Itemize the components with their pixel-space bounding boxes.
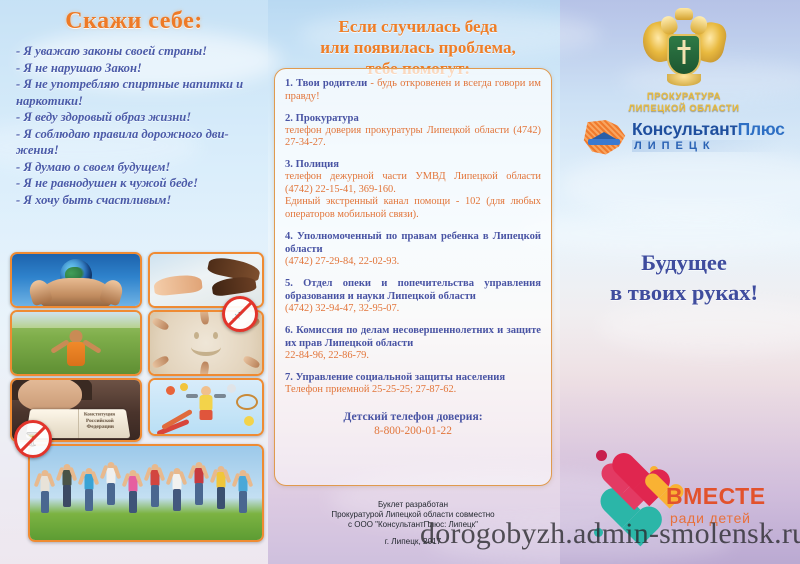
childrens-helpline: Детский телефон доверия: 8-800-200-01-22 (285, 409, 541, 439)
contact-item-body: Телефон приемной 25-25-25; 27-87-62. (285, 384, 541, 397)
contact-item-head: 3. Полиция (285, 158, 541, 171)
right-column: ПРОКУРАТУРА ЛИПЕЦКОЙ ОБЛАСТИ Консультант… (568, 0, 800, 564)
jumping-youth-photo (28, 444, 264, 542)
contact-item-body: телефон дежурной части УМВД Липецкой обл… (285, 171, 541, 221)
pledge-item: - Я соблюдаю правила дорожного дви- жени… (16, 126, 254, 159)
smiley-face-graphic (187, 328, 225, 358)
pledge-item: - Я хочу быть счастливым! (16, 192, 254, 209)
contact-item-body: (4742) 32-94-47, 32-95-07. (285, 303, 541, 316)
contact-item: 6. Комиссия по делам несовершеннолетних … (285, 324, 541, 363)
contact-item-head: 6. Комиссия по делам несовершеннолетних … (285, 324, 541, 350)
site-watermark: dorogobyzh.admin-smolensk.ru (420, 518, 800, 550)
contact-item-body: телефон доверия прокуратуры Липецкой обл… (285, 125, 541, 150)
consultant-word: Консультант (632, 119, 738, 139)
syringe-glyph: 💉 (232, 308, 248, 321)
contact-item: 2. Прокуратура телефон доверия прокурату… (285, 112, 541, 150)
help-contacts-box: 1. Твои родители - будь откровенен и все… (274, 68, 552, 486)
vmeste-title: ВМЕСТЕ (666, 484, 766, 509)
helpline-number: 8-800-200-01-22 (285, 424, 541, 439)
hands-holding-globe-photo (10, 252, 142, 308)
plus-word: Плюс (738, 119, 785, 139)
child-graphic (54, 330, 98, 370)
pledge-item: - Я уважаю законы своей страны! (16, 43, 254, 60)
left-column: Скажи себе: - Я уважаю законы своей стра… (0, 0, 268, 564)
contact-item-title: 1. Твои родители (285, 78, 367, 89)
graduation-cap-brim-icon (588, 139, 620, 145)
pledge-item: - Я думаю о своем будущем! (16, 159, 254, 176)
booklet-page: Скажи себе: - Я уважаю законы своей стра… (0, 0, 800, 564)
no-drugs-sign-icon: 💉 (222, 296, 258, 332)
contact-item: 7. Управление социальной защиты населени… (285, 371, 541, 397)
photo-collage: Конституция Российской Федерации (6, 250, 262, 560)
athlete-graphic (195, 386, 217, 426)
prosecutor-line-1: ПРОКУРАТУРА (568, 90, 800, 102)
consultant-plus-logo: КонсультантПлюс ЛИПЕЦК (582, 118, 788, 158)
contact-item: 4. Уполномоченный по правам ребенка в Ли… (285, 230, 541, 269)
pledge-item: - Я не употребляю спиртные напитки и нар… (16, 76, 254, 109)
face-graphic (18, 378, 82, 412)
sports-illustration (148, 378, 264, 436)
contact-item: 3. Полиция телефон дежурной части УМВД Л… (285, 158, 541, 221)
slogan-line-1: Будущее (568, 248, 800, 278)
center-column: Если случилась беда или появилась пробле… (268, 0, 568, 564)
bottle-glass-glyph: 🍸 (25, 433, 41, 446)
contact-item-head: 1. Твои родители - будь откровенен и все… (285, 77, 541, 103)
pledge-item: - Я не равнодушен к чужой беде! (16, 175, 254, 192)
contact-item-head: 7. Управление социальной защиты населени… (285, 371, 541, 384)
prosecutor-office-name: ПРОКУРАТУРА ЛИПЕЦКОЙ ОБЛАСТИ (568, 90, 800, 114)
contact-item-head: 2. Прокуратура (285, 112, 541, 125)
contact-item: 1. Твои родители - будь откровенен и все… (285, 77, 541, 103)
contact-item-body: (4742) 27-29-84, 22-02-93. (285, 256, 541, 269)
contact-item-head: 5. Отдел опеки и попечительства управлен… (285, 277, 541, 303)
pledge-item: - Я веду здоровый образ жизни! (16, 109, 254, 126)
double-headed-eagle-icon (641, 8, 727, 86)
pledge-item: - Я не нарушаю Закон! (16, 60, 254, 77)
contact-item-body: 22-84-96, 22-86-79. (285, 350, 541, 363)
constitution-book-text: Конституция Российской Федерации (76, 412, 125, 431)
no-alcohol-sign-icon: 🍸 (14, 420, 52, 458)
consultant-plus-name: КонсультантПлюс (632, 118, 785, 140)
slogan-line-2: в твоих руках! (568, 278, 800, 308)
helpline-label: Детский телефон доверия: (285, 409, 541, 424)
left-column-title: Скажи себе: (0, 8, 268, 35)
child-in-field-photo (10, 310, 142, 376)
pledge-list: - Я уважаю законы своей страны! - Я не н… (16, 43, 254, 208)
main-slogan: Будущее в твоих руках! (568, 248, 800, 308)
contact-item-head: 4. Уполномоченный по правам ребенка в Ли… (285, 230, 541, 256)
contact-item: 5. Отдел опеки и попечительства управлен… (285, 277, 541, 316)
dot-decoration (596, 450, 607, 461)
hands-graphic (40, 278, 112, 308)
prosecutor-line-2: ЛИПЕЦКОЙ ОБЛАСТИ (568, 102, 800, 114)
consultant-plus-city: ЛИПЕЦК (632, 140, 784, 152)
